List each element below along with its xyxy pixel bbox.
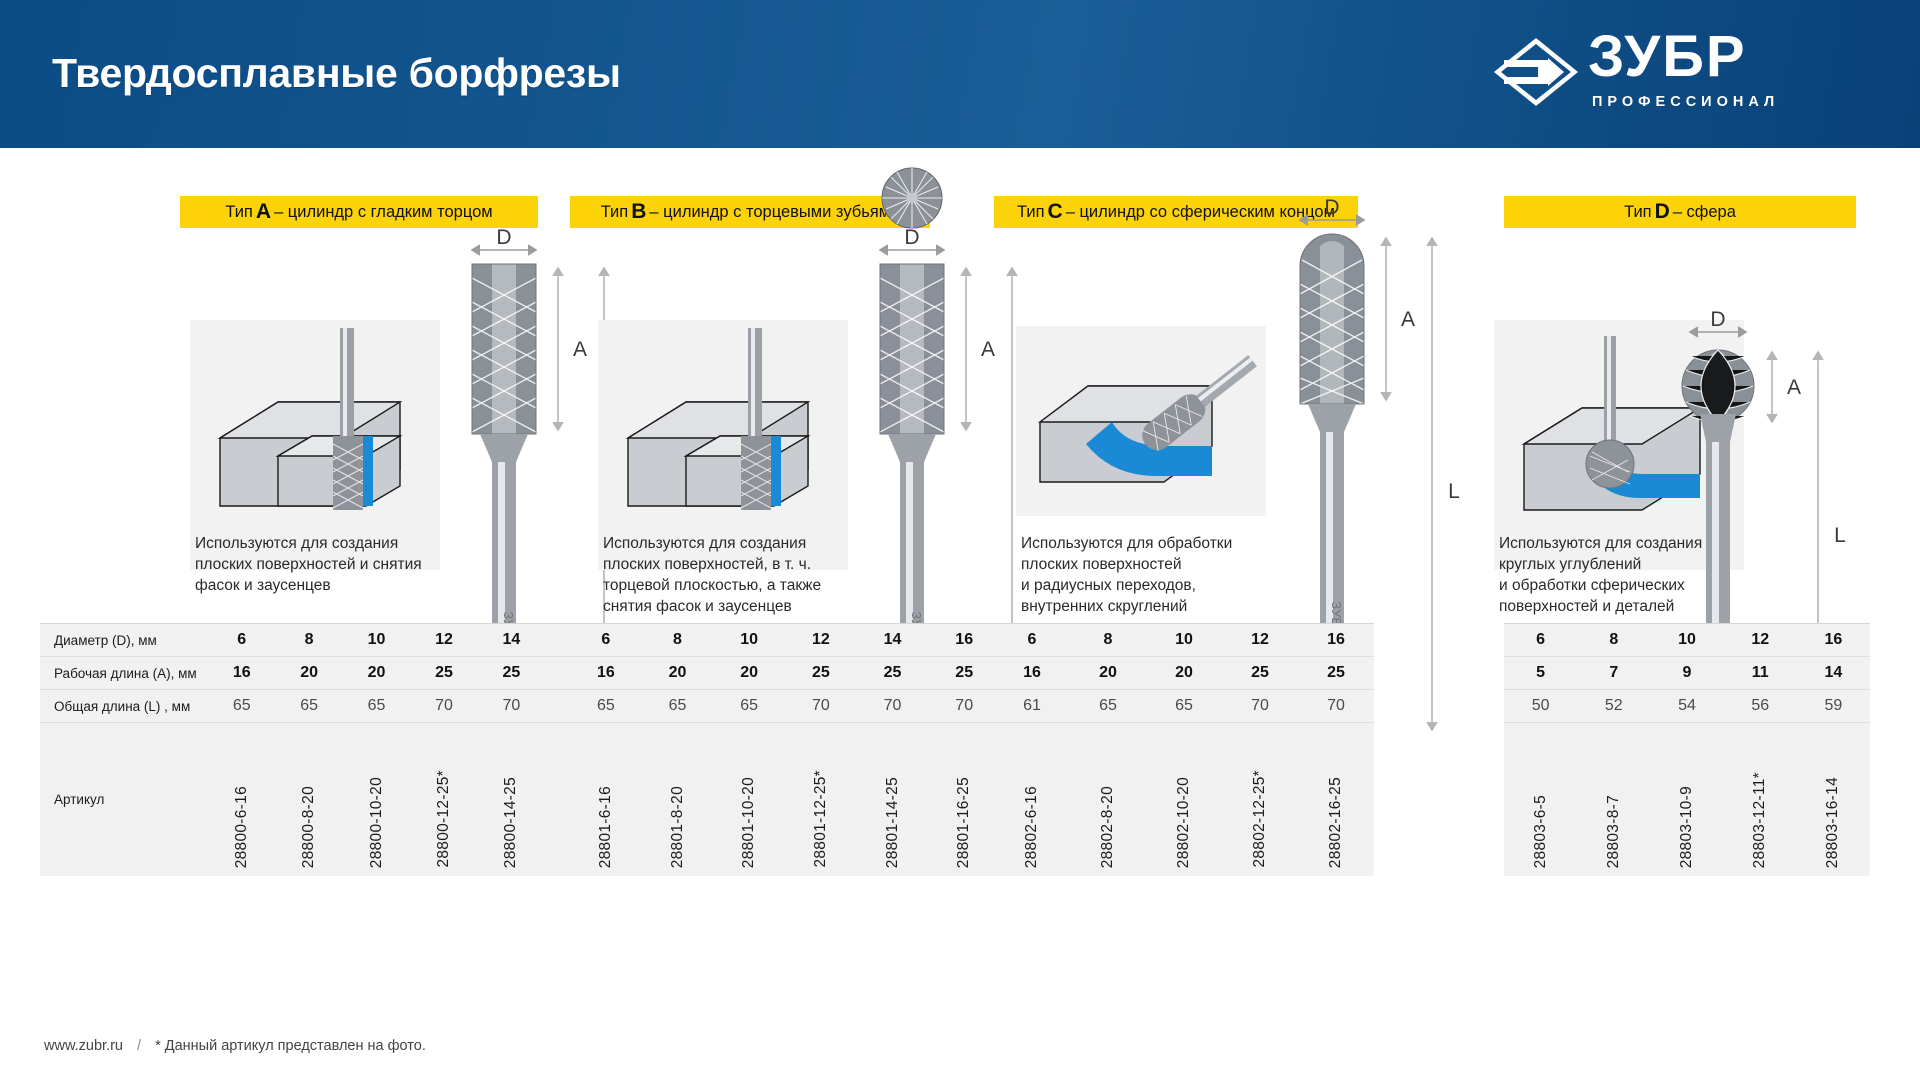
badge-prefix: Тип [601,203,629,222]
table-row: 50 52 54 56 59 [1504,690,1870,723]
article-cell: 28801-6-16 [570,786,642,868]
cell: 14 [478,631,545,649]
cell: 12 [1724,631,1797,649]
cell: 11 [1724,664,1797,682]
cell: 20 [1146,664,1222,682]
cell: 70 [1222,697,1298,715]
article-cell: 28800-6-16 [208,786,275,868]
article-cell: 28801-12-25* [785,770,857,868]
usage-description-c: Используются для обработки плоских повер… [1021,533,1271,617]
brand-logo: ЗУБР ПРОФЕССИОНАЛ [1492,30,1872,124]
badge-prefix: Тип [1017,203,1045,222]
cell: 70 [928,697,1000,715]
article-cell: 28803-16-14 [1797,777,1870,868]
cell: 16 [208,664,275,682]
end-tooth-face [882,168,942,228]
table-row: 5 7 9 11 14 [1504,657,1870,690]
table-row: 6 8 10 12 16 [1504,624,1870,657]
cell: 20 [1070,664,1146,682]
spec-table-c: 6 8 10 12 16 16 20 20 25 25 61 65 65 70 [994,623,1374,876]
cell: 14 [1797,664,1870,682]
table-row: 65 65 65 70 70 70 [570,690,1000,723]
article-code: 28801-6-16 [597,786,615,868]
badge-prefix: Тип [1624,203,1652,222]
cell: 16 [994,664,1070,682]
cell: 25 [478,664,545,682]
article-cell: 28803-6-5 [1504,795,1577,868]
footnote-text: * Данный артикул представлен на фото. [155,1038,426,1054]
cell: 8 [1070,631,1146,649]
cell: 20 [642,664,714,682]
usage-description-a: Используются для создания плоских поверх… [195,533,435,596]
cell: 10 [343,631,410,649]
page-header: Твердосплавные борфрезы ЗУБР ПРОФЕССИОНА… [0,0,1920,148]
article-code: 28803-16-14 [1824,777,1842,868]
svg-text:A: A [1787,376,1801,399]
cell: 65 [208,697,275,715]
table-row-articles: 28802-6-16 28802-8-20 28802-10-20 28802-… [994,723,1374,876]
article-code: 28801-8-20 [669,786,687,868]
svg-text:A: A [1401,308,1415,331]
svg-text:D: D [1710,308,1725,331]
article-row-label: Артикул [40,723,208,876]
article-cell: 28802-8-20 [1070,786,1146,868]
table-row: 6 8 10 12 14 16 [570,624,1000,657]
badge-suffix: – сфера [1673,203,1736,222]
cell: 61 [994,697,1070,715]
cell: 5 [1504,664,1577,682]
article-code: 28801-16-25 [955,777,973,868]
cell: 16 [1298,631,1374,649]
article-cell: 28801-8-20 [642,786,714,868]
cell: 54 [1650,697,1723,715]
cell: 65 [570,697,642,715]
article-code: 28802-12-25* [1251,770,1269,868]
row-label: Общая длина (L) , мм [40,699,208,714]
table-row: 16 20 20 25 25 [994,657,1374,690]
svg-text:L: L [1834,524,1846,547]
cell: 8 [1577,631,1650,649]
article-code: 28801-14-25 [884,777,902,868]
cell: 25 [857,664,929,682]
cell: 65 [1070,697,1146,715]
article-code: 28802-6-16 [1023,786,1041,868]
svg-text:D: D [1324,196,1339,219]
article-cell: 28800-10-20 [343,777,410,868]
cell: 10 [1650,631,1723,649]
cell: 16 [570,664,642,682]
cell: 6 [994,631,1070,649]
table-row: 61 65 65 70 70 [994,690,1374,723]
article-code: 28803-12-11* [1751,772,1769,868]
svg-text:D: D [496,226,511,249]
cell: 12 [410,631,477,649]
cell: 70 [857,697,929,715]
article-cell: 28803-10-9 [1650,786,1723,868]
cell: 8 [642,631,714,649]
usage-description-b: Используются для создания плоских поверх… [603,533,853,617]
svg-text:D: D [904,226,919,249]
cell: 6 [208,631,275,649]
article-cell: 28801-14-25 [857,777,929,868]
article-cell: 28802-10-20 [1146,777,1222,868]
cell: 25 [1298,664,1374,682]
type-badge-d: Тип D – сфера [1504,196,1856,228]
website-link[interactable]: www.zubr.ru [44,1038,123,1054]
usage-description-d: Используются для создания круглых углубл… [1499,533,1749,617]
article-cell: 28802-16-25 [1298,777,1374,868]
cell: 56 [1724,697,1797,715]
cell: 20 [343,664,410,682]
row-label: Рабочая длина (A), мм [40,666,208,681]
cell: 25 [410,664,477,682]
cell: 10 [713,631,785,649]
logo-wordmark: ЗУБР [1588,28,1747,86]
article-cell: 28802-12-25* [1222,770,1298,868]
article-cell: 28800-14-25 [478,777,545,868]
article-code: 28803-8-7 [1605,795,1623,868]
badge-letter: B [631,200,646,224]
article-cell: 28801-10-20 [713,777,785,868]
cell: 10 [1146,631,1222,649]
badge-letter: D [1655,200,1670,224]
article-code: 28800-10-20 [368,777,386,868]
svg-text:A: A [981,338,995,361]
cell: 65 [713,697,785,715]
article-code: 28800-8-20 [300,786,318,868]
cell: 70 [785,697,857,715]
article-code: 28801-12-25* [812,770,830,868]
cell: 65 [343,697,410,715]
cell: 16 [1797,631,1870,649]
zubr-diamond-icon [1492,36,1580,108]
logo-tagline: ПРОФЕССИОНАЛ [1592,94,1779,110]
article-code: 28803-6-5 [1532,795,1550,868]
article-code: 28801-10-20 [740,777,758,868]
cell: 52 [1577,697,1650,715]
article-code: 28803-10-9 [1678,786,1696,868]
table-row-articles: 28801-6-16 28801-8-20 28801-10-20 28801-… [570,723,1000,876]
article-cell: 28802-6-16 [994,786,1070,868]
article-code: 28800-14-25 [502,777,520,868]
cell: 9 [1650,664,1723,682]
cell: 25 [1222,664,1298,682]
article-cell: 28803-8-7 [1577,795,1650,868]
table-row: 16 20 20 25 25 25 [570,657,1000,690]
cell: 20 [713,664,785,682]
badge-prefix: Тип [225,203,253,222]
article-cell: 28801-16-25 [928,777,1000,868]
application-illustration-c [1016,326,1266,516]
article-cell: 28800-8-20 [275,786,342,868]
cell: 70 [410,697,477,715]
cell: 65 [642,697,714,715]
cell: 16 [928,631,1000,649]
article-code: 28800-6-16 [233,786,251,868]
row-label: Диаметр (D), мм [40,633,208,648]
badge-letter: C [1048,200,1063,224]
cell: 70 [478,697,545,715]
cell: 12 [1222,631,1298,649]
page-footer: www.zubr.ru / * Данный артикул представл… [44,1038,426,1054]
cell: 20 [275,664,342,682]
badge-letter: A [256,200,271,224]
page-title: Твердосплавные борфрезы [52,50,621,97]
cell: 6 [570,631,642,649]
svg-text:L: L [1448,480,1460,503]
table-row: 6 8 10 12 16 [994,624,1374,657]
cell: 50 [1504,697,1577,715]
table-row-articles: 28803-6-5 28803-8-7 28803-10-9 28803-12-… [1504,723,1870,876]
cell: 25 [928,664,1000,682]
svg-text:A: A [573,338,587,361]
article-cell: 28800-12-25* [410,770,477,868]
footer-separator: / [137,1038,141,1054]
cell: 25 [785,664,857,682]
cell: 70 [1298,697,1374,715]
cell: 6 [1504,631,1577,649]
spec-table-b: 6 8 10 12 14 16 16 20 20 25 25 25 65 65 [570,623,1000,876]
cell: 7 [1577,664,1650,682]
article-cell: 28803-12-11* [1724,772,1797,868]
article-code: 28802-16-25 [1327,777,1345,868]
article-code: 28802-10-20 [1175,777,1193,868]
article-code: 28800-12-25* [435,770,453,868]
cell: 14 [857,631,929,649]
cell: 65 [1146,697,1222,715]
article-code: 28802-8-20 [1099,786,1117,868]
cell: 59 [1797,697,1870,715]
cell: 12 [785,631,857,649]
spec-table-d: 6 8 10 12 16 5 7 9 11 14 50 52 54 56 59 [1504,623,1870,876]
cell: 8 [275,631,342,649]
cell: 65 [275,697,342,715]
